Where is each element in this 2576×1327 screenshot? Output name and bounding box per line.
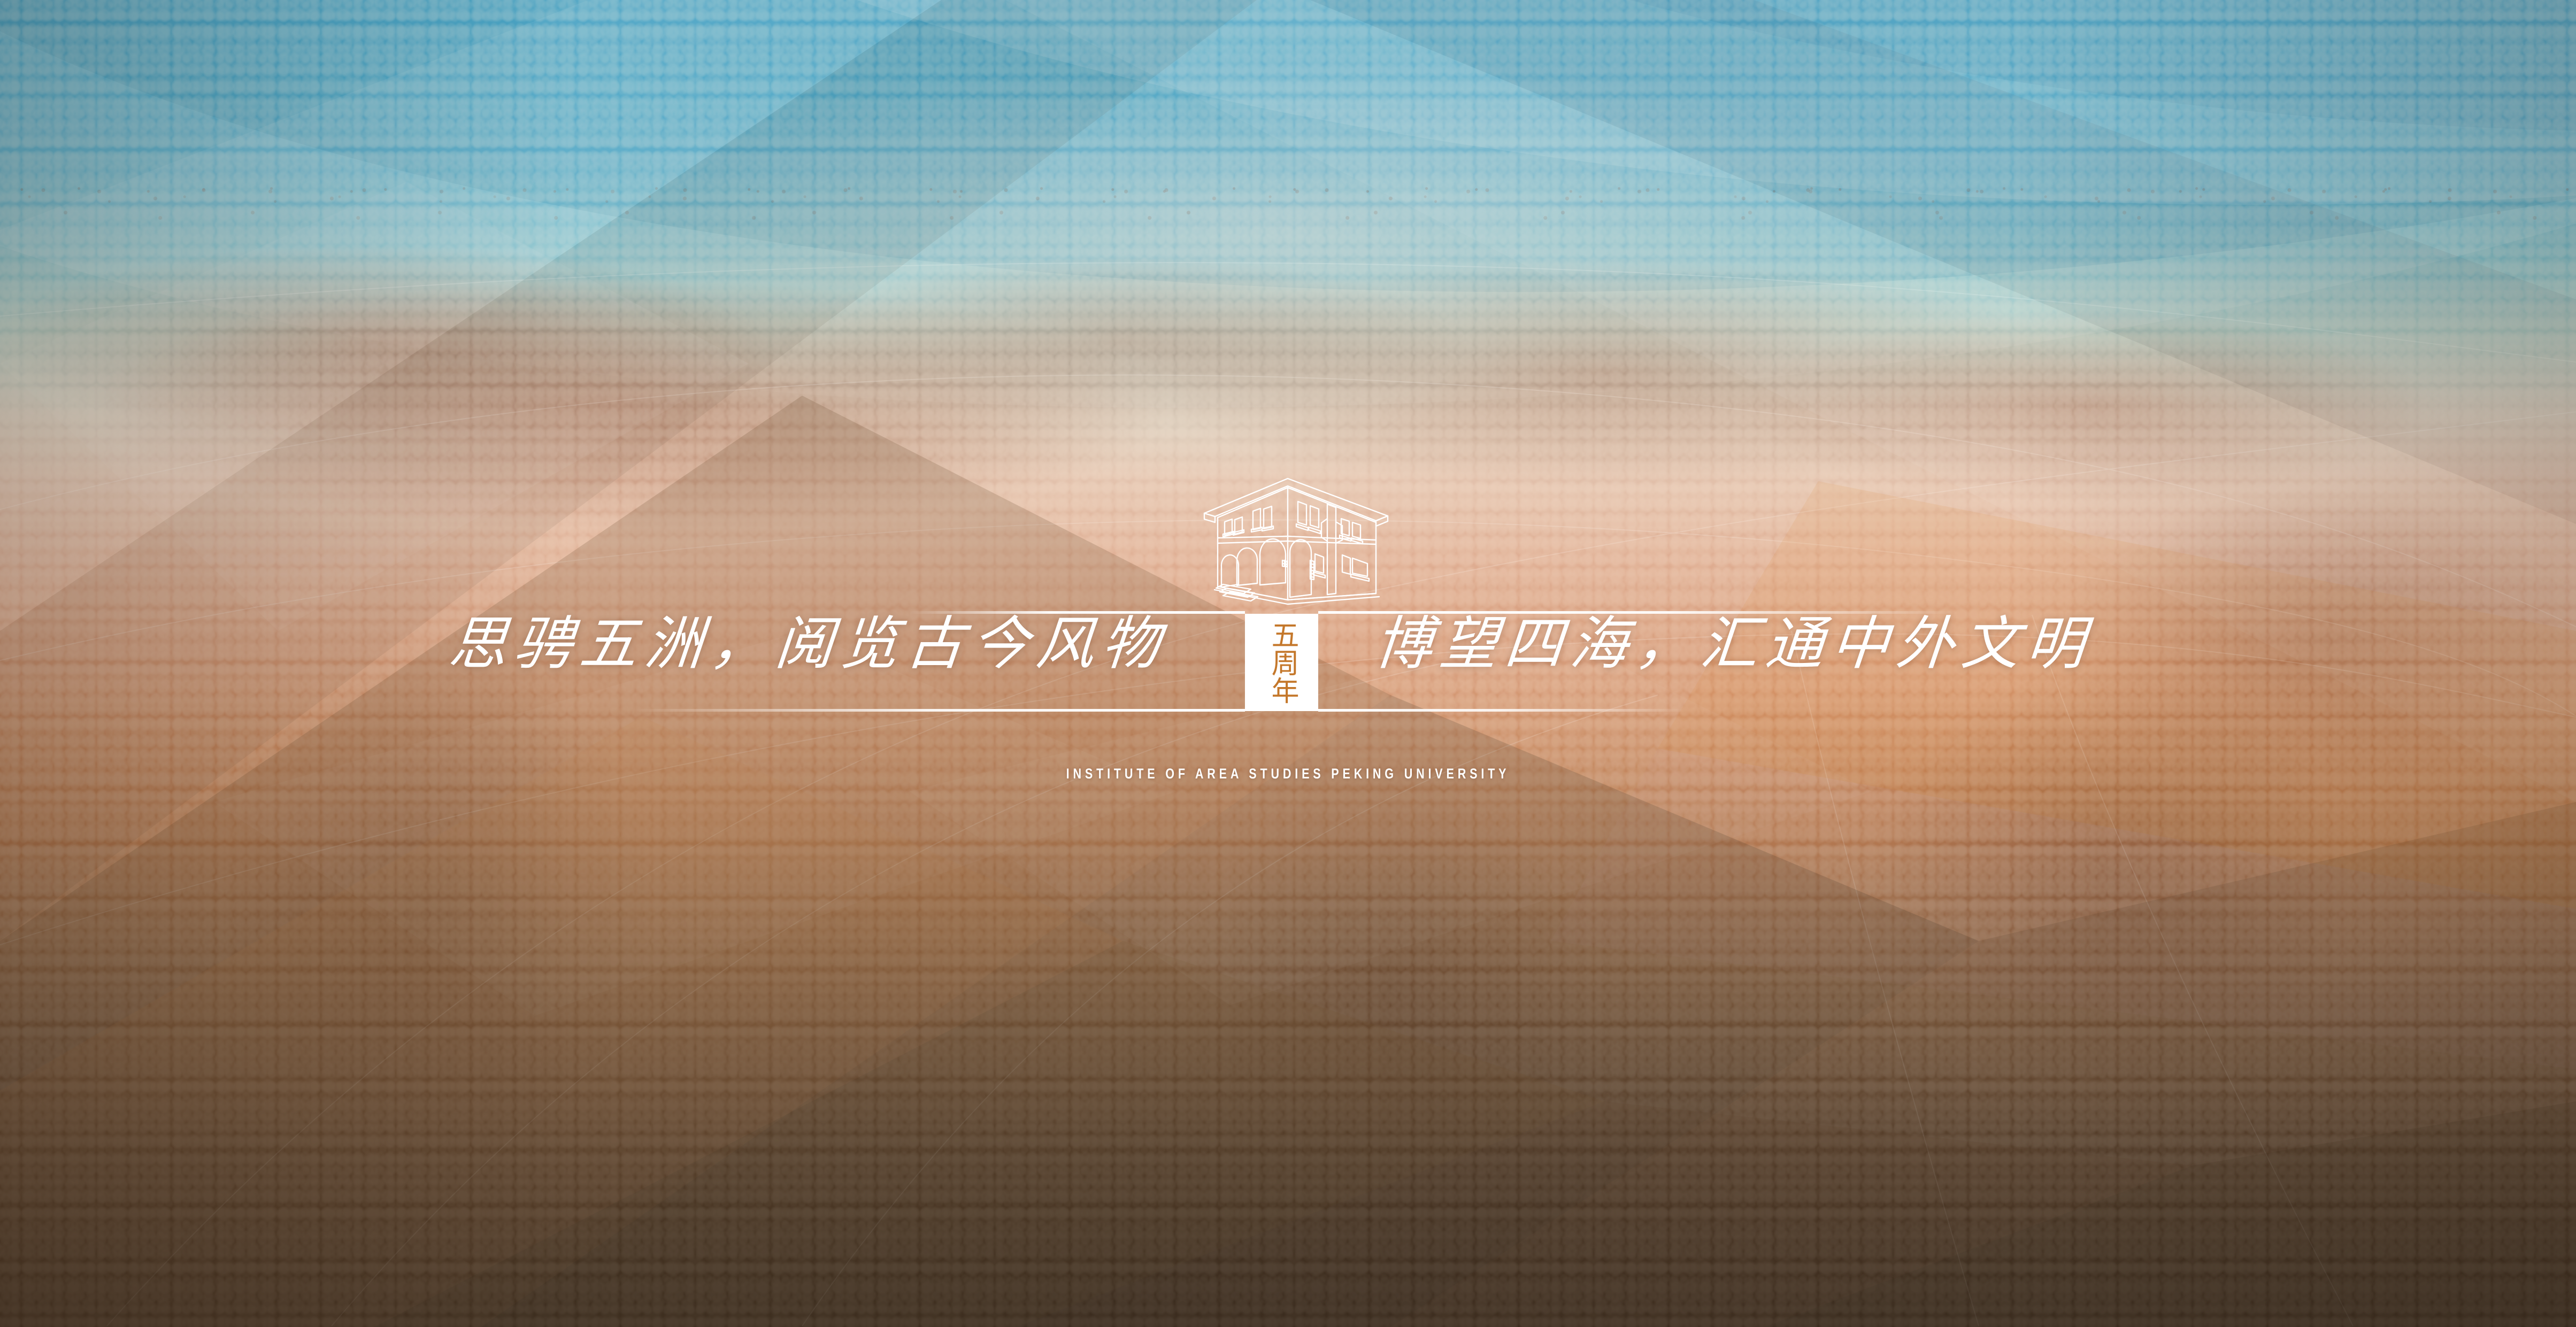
banner-canvas: 思骋五洲，阅览古今风物 五周年 博望四海，汇通中外文明 INSTITUTE OF… <box>0 0 2576 1327</box>
edge-vignette <box>0 0 2576 1327</box>
